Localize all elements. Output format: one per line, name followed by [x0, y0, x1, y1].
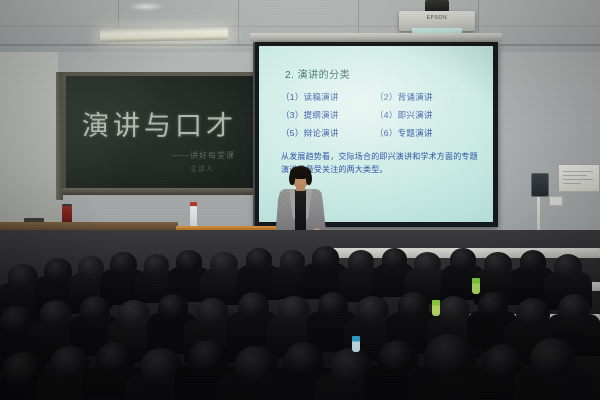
student-head	[516, 298, 550, 328]
slide-list-item: （4）即兴演讲	[375, 109, 433, 121]
blackboard-subtitle-text: ——讲好每堂课	[172, 150, 235, 161]
notice-board	[558, 164, 600, 192]
water-bottle	[190, 206, 197, 228]
student-head	[478, 292, 508, 319]
student-head	[318, 292, 348, 319]
student-head	[96, 342, 134, 377]
student-head	[158, 294, 188, 321]
student-head	[450, 248, 476, 271]
student-head	[118, 300, 150, 328]
student-head	[554, 254, 582, 279]
student-head	[520, 250, 546, 273]
student-head	[280, 250, 305, 272]
slide-list-item: （2）背诵演讲	[375, 91, 433, 103]
student-head	[144, 254, 169, 276]
student-head	[40, 300, 72, 328]
lecture-hall-photo: EPSON 演讲与口才 ——讲好每堂课 主讲人 2. 演讲的分类 （1）读稿演讲…	[0, 0, 600, 400]
blackboard-title-text: 演讲与口才	[82, 104, 237, 143]
fluorescent-light-icon	[100, 27, 228, 43]
student-head	[312, 246, 339, 270]
student-head	[484, 252, 512, 276]
slide-list: （1）读稿演讲 （2）背诵演讲 （3）提纲演讲 （4）即兴演讲 （5）辩论演讲 …	[281, 91, 481, 145]
student-head	[196, 298, 229, 327]
blackboard: 演讲与口才 ——讲好每堂课 主讲人	[66, 76, 256, 188]
student-head	[238, 292, 269, 320]
student-water-bottle	[432, 300, 440, 316]
student-water-bottle	[472, 278, 480, 294]
chalk-tray	[62, 188, 260, 195]
student-head	[398, 292, 429, 320]
student-head	[356, 296, 389, 325]
student-water-bottle	[352, 336, 360, 352]
student-head	[44, 258, 72, 283]
student-head	[284, 342, 324, 378]
card-reader-icon[interactable]	[531, 173, 549, 197]
student-head	[530, 338, 576, 380]
student-head	[176, 250, 202, 273]
wall-seam	[238, 0, 239, 46]
slide-list-row: （1）读稿演讲 （2）背诵演讲	[281, 91, 481, 103]
projector-brand-label: EPSON	[399, 15, 475, 21]
student-head	[382, 248, 407, 270]
blackboard-subtitle2-text: 主讲人	[190, 164, 214, 174]
presenter-hair-left	[289, 171, 295, 185]
slide-list-item: （3）提纲演讲	[281, 109, 359, 121]
student-audience	[0, 230, 600, 400]
student-head	[188, 340, 228, 376]
student-head	[558, 294, 590, 322]
student-head	[348, 250, 374, 273]
wall-socket	[549, 196, 563, 206]
slide-list-item: （5）辩论演讲	[281, 127, 359, 139]
student-head	[246, 248, 272, 271]
slide-list-row: （5）辩论演讲 （6）专题演讲	[281, 127, 481, 139]
left-wall-panel	[0, 52, 58, 222]
student-head	[210, 252, 238, 276]
screen-top-rail	[250, 33, 502, 42]
student-head	[110, 252, 137, 276]
student-head	[278, 296, 310, 324]
student-head	[414, 252, 441, 275]
ceiling-seam-upper	[0, 26, 600, 27]
student-head	[424, 334, 476, 380]
presenter-hair-right	[306, 171, 312, 185]
slide-title: 2. 演讲的分类	[285, 66, 350, 81]
slide-list-item: （1）读稿演讲	[281, 91, 359, 103]
slide-list-row: （3）提纲演讲 （4）即兴演讲	[281, 109, 481, 121]
student-head	[80, 296, 110, 323]
ceiling-light-reflection	[128, 2, 164, 11]
slide-list-item: （6）专题演讲	[375, 127, 433, 139]
student-head	[438, 296, 470, 324]
